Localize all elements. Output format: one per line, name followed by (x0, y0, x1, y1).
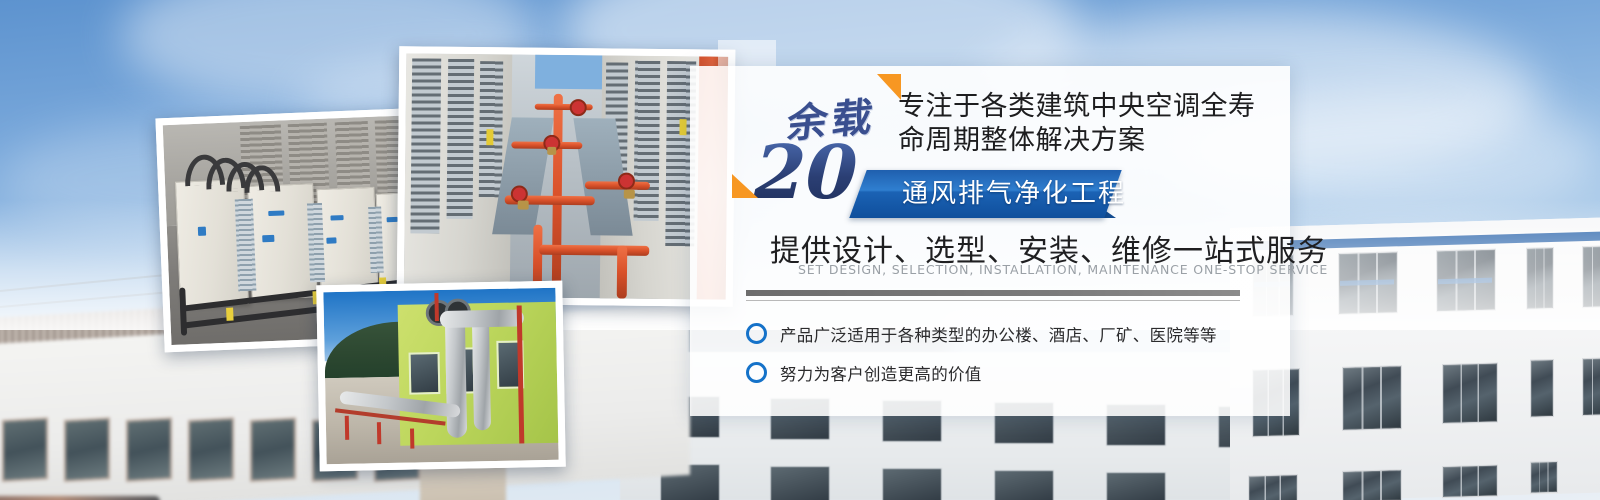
list-item-label: 产品广泛适用于各种类型的办公楼、酒店、厂矿、医院等等 (780, 322, 1217, 346)
feature-list: 产品广泛适用于各种类型的办公楼、酒店、厂矿、医院等等 努力为客户创造更高的价值 (746, 314, 1266, 392)
ribbon-badge: 通风排气净化工程 (858, 170, 1158, 218)
years-number: 20 (745, 136, 865, 210)
slogan-english: SET DESIGN, SELECTION, INSTALLATION, MAI… (798, 262, 1328, 277)
divider-thin (746, 300, 1240, 301)
circle-bullet-icon (746, 362, 767, 383)
divider-thick (746, 290, 1240, 296)
content-panel: 余载 20 专注于各类建筑中央空调全寿命周期整体解决方案 通风排气净化工程 提供… (690, 66, 1290, 416)
circle-bullet-icon (746, 323, 767, 344)
list-item: 产品广泛适用于各种类型的办公楼、酒店、厂矿、医院等等 (746, 314, 1266, 353)
headline: 专注于各类建筑中央空调全寿命周期整体解决方案 (898, 90, 1278, 158)
panel-accent-tab (718, 40, 776, 66)
photo-rooftop-duct-green-building (316, 281, 566, 472)
list-item-label: 努力为客户创造更高的价值 (780, 361, 982, 385)
list-item: 努力为客户创造更高的价值 (746, 353, 1266, 392)
photo-chiller-red-piping (397, 46, 736, 307)
ribbon-label: 通风排气净化工程 (902, 178, 1126, 210)
hero-banner: 余载 20 专注于各类建筑中央空调全寿命周期整体解决方案 通风排气净化工程 提供… (0, 0, 1600, 500)
corner-bracket-bottom-left-icon (732, 174, 758, 198)
